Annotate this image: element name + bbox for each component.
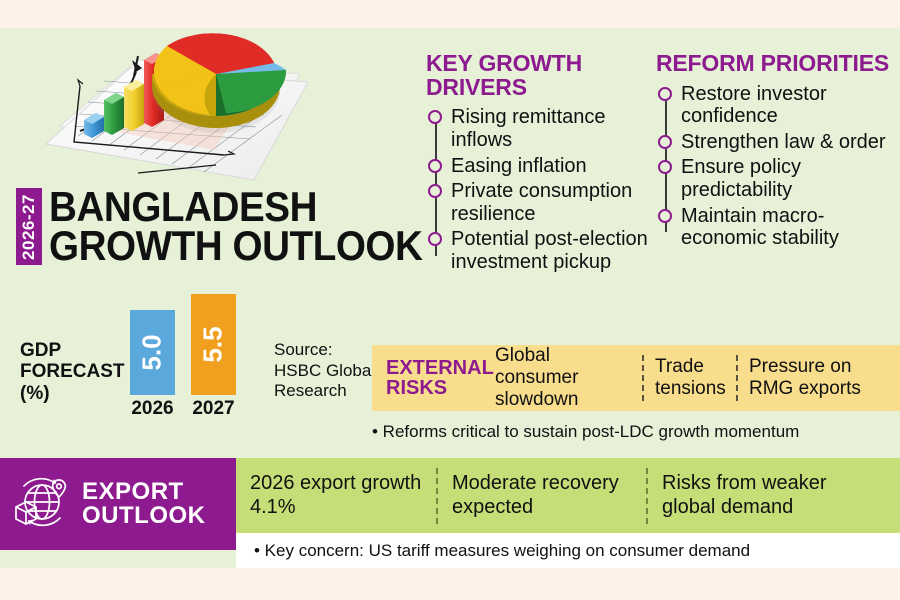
circle-bullet-icon xyxy=(658,160,672,174)
circle-bullet-icon xyxy=(658,87,672,101)
external-risks-note: • Reforms critical to sustain post-LDC g… xyxy=(372,422,892,442)
circle-bullet-icon xyxy=(428,159,442,173)
source-line-2: HSBC Global xyxy=(274,361,375,382)
title-text: BANGLADESH GROWTH OUTLOOK xyxy=(49,188,422,265)
export-outlook-item-2: Moderate recovery expected xyxy=(438,472,646,519)
gdp-label-line-3: (%) xyxy=(20,383,125,404)
list-item: Restore investor confidence xyxy=(656,83,900,128)
export-outlook-band: 2026 export growth 4.1% Moderate recover… xyxy=(236,458,900,533)
list-item-label: Easing inflation xyxy=(451,155,654,178)
circle-bullet-icon xyxy=(658,135,672,149)
gdp-bar-value-2027: 5.5 xyxy=(198,326,229,362)
export-outlook-heading-line-2: OUTLOOK xyxy=(82,504,206,528)
list-item-label: Potential post-election investment picku… xyxy=(451,228,654,273)
gdp-bar-column-2027: 5.5 2027 xyxy=(191,294,236,420)
export-outlook-heading-line-1: EXPORT xyxy=(82,480,206,504)
external-risks-heading: EXTERNAL RISKS xyxy=(372,358,484,399)
bar-yellow xyxy=(124,80,144,131)
export-outlook-item-3: Risks from weaker global demand xyxy=(648,472,862,519)
gdp-bar-chart: 5.0 2026 5.5 2027 xyxy=(130,308,236,420)
list-item-label: Strengthen law & order xyxy=(681,131,900,154)
list-item-label: Private consumption resilience xyxy=(451,180,654,225)
circle-bullet-icon xyxy=(428,110,442,124)
gdp-forecast-block: GDP FORECAST (%) 5.0 2026 5.5 2027 Sourc… xyxy=(18,308,378,438)
reform-priorities-column: REFORM PRIORITIES Restore investor confi… xyxy=(656,52,900,253)
source-text: Source: HSBC Global Research xyxy=(274,340,375,402)
gdp-bar-year-2026: 2026 xyxy=(131,398,173,420)
bar-green xyxy=(104,93,124,135)
external-risk-item-2: Trade tensions xyxy=(644,356,736,400)
title-line-2: GROWTH OUTLOOK xyxy=(49,227,422,266)
external-risk-item-1: Global consumer slowdown xyxy=(484,345,642,411)
gdp-bar-value-2026: 5.0 xyxy=(137,334,168,370)
gdp-bar-column-2026: 5.0 2026 xyxy=(130,310,175,420)
source-line-1: Source: xyxy=(274,340,375,361)
reform-priorities-heading: REFORM PRIORITIES xyxy=(656,52,900,76)
year-badge-label: 2026-27 xyxy=(19,194,39,260)
export-outlook-header: EXPORT OUTLOOK xyxy=(0,458,236,550)
gdp-label-line-1: GDP xyxy=(20,340,125,361)
list-item: Strengthen law & order xyxy=(656,131,900,154)
list-item-label: Ensure policy predictability xyxy=(681,156,900,201)
gdp-forecast-label: GDP FORECAST (%) xyxy=(20,340,125,404)
list-item-label: Maintain macro-economic stability xyxy=(681,205,900,250)
list-item: Maintain macro-economic stability xyxy=(656,205,900,250)
external-risks-band: EXTERNAL RISKS Global consumer slowdown … xyxy=(372,345,900,411)
list-item: Easing inflation xyxy=(426,155,654,178)
list-item: Ensure policy predictability xyxy=(656,156,900,201)
circle-bullet-icon xyxy=(428,184,442,198)
infographic-root: 2026-27 BANGLADESH GROWTH OUTLOOK GDP FO… xyxy=(0,0,900,600)
year-badge: 2026-27 xyxy=(16,188,42,265)
globe-package-pin-icon xyxy=(0,474,82,534)
circle-bullet-icon xyxy=(428,232,442,246)
list-item: Rising remittance inflows xyxy=(426,106,654,151)
circle-bullet-icon xyxy=(658,209,672,223)
list-item-label: Rising remittance inflows xyxy=(451,106,654,151)
external-risk-item-3: Pressure on RMG exports xyxy=(738,356,898,400)
list-item: Private consumption resilience xyxy=(426,180,654,225)
charts-on-paper-illustration xyxy=(18,8,328,193)
gdp-label-line-2: FORECAST xyxy=(20,361,125,382)
key-growth-drivers-heading: KEY GROWTH DRIVERS xyxy=(426,52,654,99)
list-item: Potential post-election investment picku… xyxy=(426,228,654,273)
gdp-bar-year-2027: 2027 xyxy=(192,398,234,420)
export-outlook-note-strip: • Key concern: US tariff measures weighi… xyxy=(236,533,900,568)
key-growth-drivers-column: KEY GROWTH DRIVERS Rising remittance inf… xyxy=(426,52,654,277)
export-outlook-item-1: 2026 export growth 4.1% xyxy=(236,472,436,519)
key-growth-drivers-list: Rising remittance inflows Easing inflati… xyxy=(426,106,654,273)
reform-priorities-list: Restore investor confidence Strengthen l… xyxy=(656,83,900,250)
page-title: 2026-27 BANGLADESH GROWTH OUTLOOK xyxy=(16,188,455,265)
list-item-label: Restore investor confidence xyxy=(681,83,900,128)
source-line-3: Research xyxy=(274,381,375,402)
export-outlook-heading: EXPORT OUTLOOK xyxy=(82,480,206,528)
gdp-bar-2027: 5.5 xyxy=(191,294,236,395)
title-line-1: BANGLADESH xyxy=(49,188,422,227)
gdp-bar-2026: 5.0 xyxy=(130,310,175,395)
export-outlook-note: • Key concern: US tariff measures weighi… xyxy=(236,541,750,561)
